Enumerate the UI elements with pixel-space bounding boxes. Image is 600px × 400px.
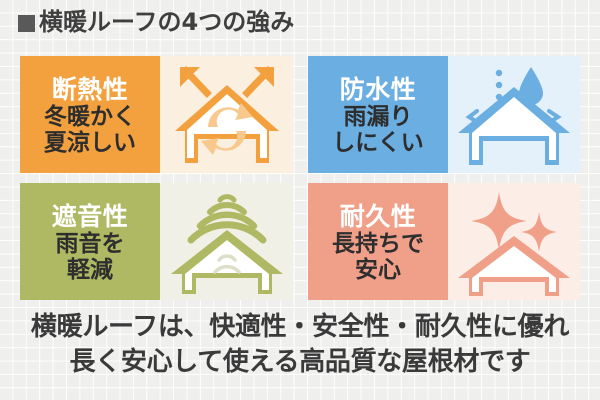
house-sound-waves-icon <box>160 183 293 300</box>
feature-card-insulation: 断熱性 冬暖かく 夏涼しい <box>20 56 293 173</box>
feature-subtext-soundproof: 雨音を 軽減 <box>56 231 125 283</box>
feature-card-waterproof: 防水性 雨漏り しにくい <box>308 56 580 173</box>
feature-heading-insulation: 断熱性 <box>52 76 129 104</box>
house-sparkle-icon <box>448 183 580 300</box>
feature-label-panel-insulation: 断熱性 冬暖かく 夏涼しい <box>20 56 160 173</box>
house-heat-circulation-icon <box>160 56 293 173</box>
feature-subtext-insulation: 冬暖かく 夏涼しい <box>44 104 136 156</box>
footer-line-1: 横暖ルーフは、快適性・安全性・耐久性に優れ <box>0 310 600 345</box>
infographic-page: 横暖ルーフの4つの強み 断熱性 冬暖かく 夏涼しい <box>0 0 600 400</box>
feature-card-soundproof: 遮音性 雨音を 軽減 <box>20 183 293 300</box>
page-title: 横暖ルーフの4つの強み <box>18 10 294 34</box>
footer-message: 横暖ルーフは、快適性・安全性・耐久性に優れ 長く安心して使える高品質な屋根材です <box>0 310 600 379</box>
feature-label-panel-durability: 耐久性 長持ちで 安心 <box>308 183 448 300</box>
page-title-text: 横暖ルーフの4つの強み <box>39 10 294 34</box>
feature-heading-durability: 耐久性 <box>340 203 417 231</box>
feature-subtext-waterproof: 雨漏り しにくい <box>332 104 424 156</box>
filled-square-bullet-icon <box>18 15 35 32</box>
feature-subtext-durability: 長持ちで 安心 <box>332 231 424 283</box>
feature-label-panel-waterproof: 防水性 雨漏り しにくい <box>308 56 448 173</box>
footer-line-2: 長く安心して使える高品質な屋根材です <box>0 345 600 380</box>
feature-heading-soundproof: 遮音性 <box>52 203 129 231</box>
feature-card-durability: 耐久性 長持ちで 安心 <box>308 183 580 300</box>
feature-label-panel-soundproof: 遮音性 雨音を 軽減 <box>20 183 160 300</box>
feature-heading-waterproof: 防水性 <box>340 76 417 104</box>
house-water-droplet-icon <box>448 56 580 173</box>
